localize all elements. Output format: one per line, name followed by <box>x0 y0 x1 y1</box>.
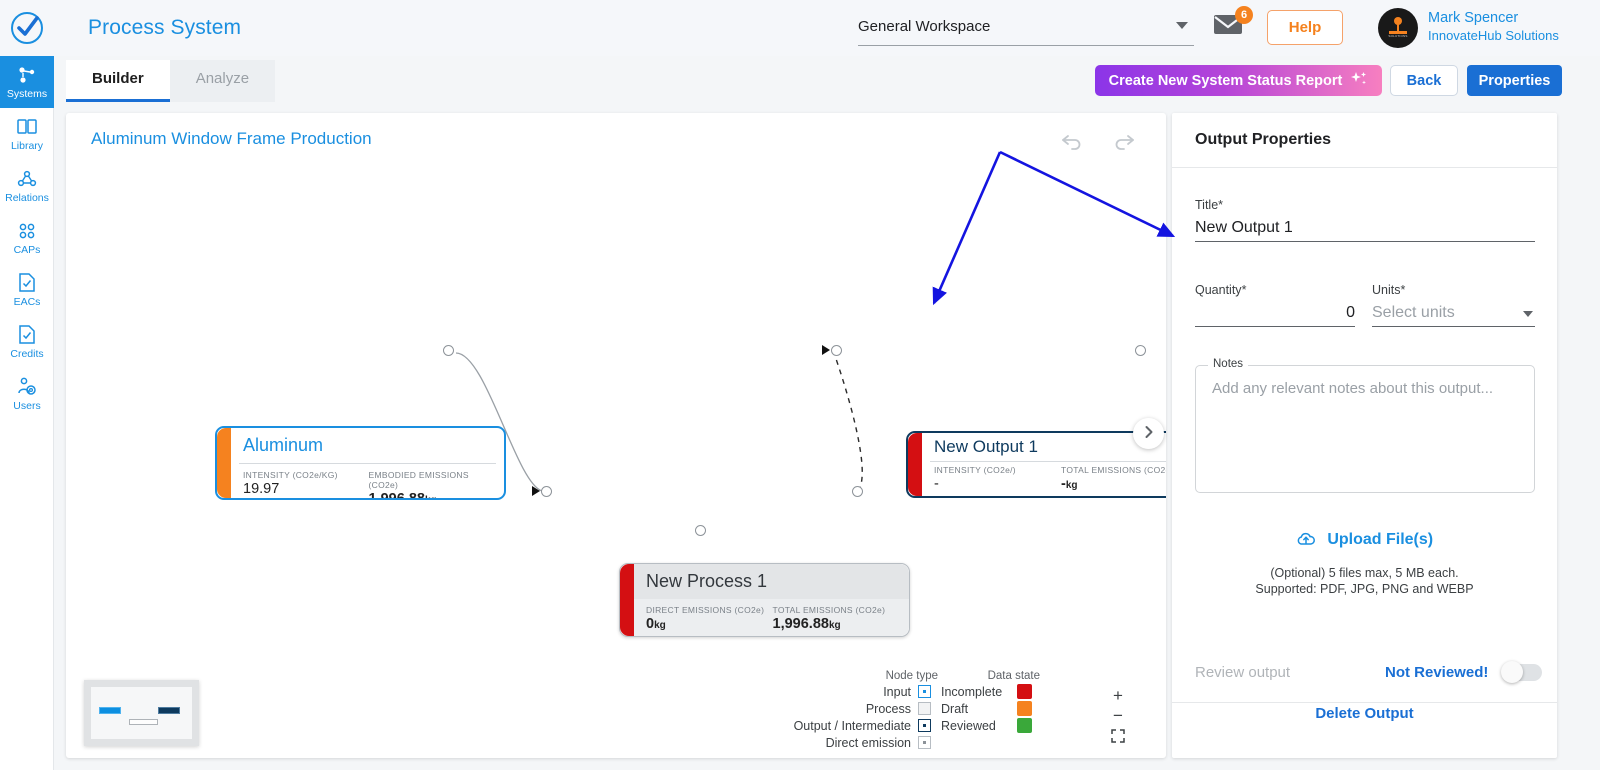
upload-help-text: (Optional) 5 files max, 5 MB each. Suppo… <box>1172 565 1557 597</box>
zoom-controls: + − <box>1106 689 1130 744</box>
node-metric-label: TOTAL EMISSIONS (CO2e) <box>1061 465 1166 475</box>
node-metrics: DIRECT EMISSIONS (CO2e) 0kg TOTAL EMISSI… <box>634 599 909 636</box>
node-metric-label: INTENSITY (CO2e/) <box>934 465 1061 475</box>
top-header-bar: Process System <box>0 0 1600 56</box>
legend-direct-emission-chip-icon <box>918 736 931 749</box>
legend-row: Direct emission <box>790 735 1046 750</box>
node-body: Aluminum INTENSITY (CO2e/KG) 19.97 EMBOD… <box>231 428 504 498</box>
legend-data-state-label: Reviewed <box>931 719 1017 733</box>
sidebar-item-label: CAPs <box>14 244 41 256</box>
user-org: InnovateHub Solutions <box>1428 28 1559 43</box>
node-metric: INTENSITY (CO2e/KG) 19.97 <box>243 470 369 498</box>
grid-dots-icon <box>18 221 36 241</box>
review-toggle[interactable] <box>1502 664 1542 681</box>
zoom-out-button[interactable]: − <box>1113 709 1123 722</box>
node-output-port-output[interactable] <box>1135 345 1146 356</box>
title-field-label: Title* <box>1195 198 1535 212</box>
node-metric-value: 1,996.88kg <box>369 491 495 498</box>
legend-state-color-reviewed <box>1017 718 1032 733</box>
node-metric-value: -kg <box>1061 476 1166 492</box>
sidebar-item-label: Library <box>11 140 43 152</box>
node-output-port-process-bottom[interactable] <box>695 525 706 536</box>
chevron-right-icon <box>1143 425 1155 443</box>
node-metric: TOTAL EMISSIONS (CO2e) 1,996.88kg <box>773 605 900 632</box>
back-button[interactable]: Back <box>1390 65 1458 96</box>
sidebar-item-relations[interactable]: Relations <box>0 160 54 212</box>
node-new-process-1[interactable]: New Process 1 DIRECT EMISSIONS (CO2e) 0k… <box>619 563 910 637</box>
sidebar-item-caps[interactable]: CAPs <box>0 212 54 264</box>
legend-state-color-draft <box>1017 701 1032 716</box>
minimap-viewport <box>91 687 192 739</box>
upload-files-button[interactable]: Upload File(s) <box>1172 531 1557 553</box>
notes-field-label: Notes <box>1208 358 1248 370</box>
node-aluminum[interactable]: Aluminum INTENSITY (CO2e/KG) 19.97 EMBOD… <box>215 426 506 500</box>
node-metric-value: 0kg <box>646 616 773 632</box>
legend-node-type-label: Input <box>790 685 918 699</box>
review-output-row: Review output Not Reviewed! <box>1172 643 1557 703</box>
legend-col-data-state: Data state <box>938 670 1046 682</box>
units-select-placeholder: Select units <box>1372 304 1455 321</box>
fit-screen-icon[interactable] <box>1111 729 1125 744</box>
title-input[interactable]: New Output 1 <box>1195 219 1535 242</box>
tab-analyze[interactable]: Analyze <box>170 60 275 102</box>
sidebar-item-label: Credits <box>10 348 43 360</box>
delete-output-button[interactable]: Delete Output <box>1172 705 1557 722</box>
legend-input-chip-icon <box>918 685 931 698</box>
help-button[interactable]: Help <box>1267 10 1343 45</box>
sidebar-item-users[interactable]: Users <box>0 368 54 420</box>
quantity-input[interactable]: 0 <box>1195 304 1355 327</box>
systems-node-icon <box>17 65 37 85</box>
mail-button[interactable]: 6 <box>1213 12 1247 42</box>
relations-icon <box>17 169 37 189</box>
avatar[interactable]: SOLUTIONS <box>1378 8 1418 48</box>
workspace-selector[interactable]: General Workspace <box>858 8 1194 46</box>
title-field-group: Title* New Output 1 <box>1195 198 1535 242</box>
units-field-label: Units* <box>1372 283 1535 297</box>
mail-badge: 6 <box>1235 6 1253 24</box>
user-name: Mark Spencer <box>1428 10 1559 26</box>
sidebar-item-systems[interactable]: Systems <box>0 56 54 108</box>
edge-process-to-output <box>834 353 862 491</box>
legend-output-chip-icon <box>918 719 931 732</box>
edge-arrow-into-output <box>822 345 830 355</box>
sidebar-item-label: Systems <box>7 88 47 100</box>
edge-arrow-into-process <box>532 486 540 496</box>
notes-placeholder: Add any relevant notes about this output… <box>1196 366 1534 411</box>
legend-data-state-label: Draft <box>931 702 1017 716</box>
panel-heading: Output Properties <box>1172 113 1557 168</box>
review-toggle-knob <box>1501 661 1523 683</box>
sidebar-item-library[interactable]: Library <box>0 108 54 160</box>
legend-col-node-type: Node type <box>790 670 938 682</box>
chevron-down-icon <box>1523 311 1533 317</box>
node-title: Aluminum <box>231 428 504 463</box>
node-metric: TOTAL EMISSIONS (CO2e) -kg <box>1061 465 1166 492</box>
sidebar-item-credits[interactable]: Credits <box>0 316 54 368</box>
book-icon <box>17 117 37 137</box>
canvas-legend: Node type Data state Input Incomplete Pr… <box>790 670 1046 750</box>
sidebar-item-label: Users <box>13 400 40 412</box>
legend-process-chip-icon <box>918 702 931 715</box>
legend-row: Output / Intermediate Reviewed <box>790 718 1046 733</box>
node-metric-label: DIRECT EMISSIONS (CO2e) <box>646 605 773 615</box>
legend-state-color-incomplete <box>1017 684 1032 699</box>
legend-node-type-label: Output / Intermediate <box>790 719 918 733</box>
node-metric: DIRECT EMISSIONS (CO2e) 0kg <box>646 605 773 632</box>
units-field-group: Units* Select units <box>1372 283 1535 327</box>
node-state-stripe <box>908 433 922 496</box>
legend-data-state-label: Incomplete <box>931 685 1017 699</box>
report-button-label: Create New System Status Report <box>1109 73 1343 89</box>
tab-builder[interactable]: Builder <box>66 60 170 102</box>
output-properties-panel: Output Properties Title* New Output 1 Qu… <box>1172 113 1557 758</box>
node-state-stripe <box>217 428 231 498</box>
document-check-icon <box>19 325 35 345</box>
quantity-input-value: 0 <box>1346 304 1355 321</box>
quantity-field-group: Quantity* 0 <box>1195 283 1355 327</box>
minimap-node-process <box>129 719 157 725</box>
units-select[interactable]: Select units <box>1372 304 1535 327</box>
node-metric: EMBODIED EMISSIONS (CO2e) 1,996.88kg <box>369 470 495 498</box>
node-metric-label: TOTAL EMISSIONS (CO2e) <box>773 605 900 615</box>
node-metrics: INTENSITY (CO2e/) - TOTAL EMISSIONS (CO2… <box>922 462 1166 495</box>
cloud-upload-icon <box>1296 535 1321 552</box>
workspace-value: General Workspace <box>858 18 990 35</box>
node-output-port-process-right[interactable] <box>852 486 863 497</box>
node-output-port-aluminum[interactable] <box>443 345 454 356</box>
sidebar-item-eacs[interactable]: EACs <box>0 264 54 316</box>
sidebar-item-label: EACs <box>14 296 41 308</box>
upload-note-line-1: (Optional) 5 files max, 5 MB each. <box>1172 565 1557 581</box>
zoom-in-button[interactable]: + <box>1113 689 1123 702</box>
review-output-label: Review output <box>1195 664 1290 681</box>
node-body: New Output 1 INTENSITY (CO2e/) - TOTAL E… <box>922 433 1166 496</box>
legend-node-type-label: Direct emission <box>790 736 918 750</box>
node-metric-label: EMBODIED EMISSIONS (CO2e) <box>369 470 495 490</box>
check-circle-logo-icon <box>8 9 46 47</box>
app-logo[interactable] <box>0 0 54 56</box>
node-new-output-1[interactable]: New Output 1 INTENSITY (CO2e/) - TOTAL E… <box>906 431 1166 498</box>
legend-headers: Node type Data state <box>790 670 1046 682</box>
app-root: Process System General Workspace 6 Help … <box>0 0 1600 770</box>
panel-collapse-toggle[interactable] <box>1133 418 1164 449</box>
sidebar-item-label: Relations <box>5 192 49 204</box>
review-status-badge: Not Reviewed! <box>1385 664 1488 681</box>
user-gear-icon <box>17 377 37 397</box>
node-metric-label: INTENSITY (CO2e/KG) <box>243 470 369 480</box>
app-title: Process System <box>88 16 241 40</box>
notes-textarea[interactable]: Notes Add any relevant notes about this … <box>1195 365 1535 493</box>
legend-row: Process Draft <box>790 701 1046 716</box>
node-metric-value: 1,996.88kg <box>773 616 900 632</box>
node-metrics: INTENSITY (CO2e/KG) 19.97 EMBODIED EMISS… <box>231 464 504 498</box>
title-input-value: New Output 1 <box>1195 219 1293 236</box>
left-sidebar: Systems Library Relations CAPs EACs <box>0 56 54 770</box>
chevron-down-icon <box>1176 22 1188 29</box>
minimap-node-aluminum <box>99 707 121 714</box>
avatar-logo-icon: SOLUTIONS <box>1386 16 1410 40</box>
canvas-minimap[interactable] <box>84 680 199 746</box>
diagram-canvas[interactable]: Aluminum Window Frame Production Aluminu… <box>66 113 1166 758</box>
create-system-status-report-button[interactable]: Create New System Status Report <box>1095 65 1382 96</box>
minimap-node-output <box>158 707 180 714</box>
node-title: New Output 1 <box>922 433 1166 461</box>
quantity-field-label: Quantity* <box>1195 283 1355 297</box>
node-title: New Process 1 <box>634 564 909 599</box>
upload-files-label: Upload File(s) <box>1327 531 1433 548</box>
node-metric-value: 19.97 <box>243 481 369 497</box>
node-metric: INTENSITY (CO2e/) - <box>934 465 1061 492</box>
user-info[interactable]: Mark Spencer InnovateHub Solutions <box>1428 10 1559 43</box>
node-body: New Process 1 DIRECT EMISSIONS (CO2e) 0k… <box>634 564 909 636</box>
node-metric-value: - <box>934 476 1061 492</box>
node-state-stripe <box>620 564 634 636</box>
legend-node-type-label: Process <box>790 702 918 716</box>
sparkles-icon <box>1350 71 1368 91</box>
view-tabs: Builder Analyze <box>66 60 275 102</box>
node-input-port-output[interactable] <box>831 345 842 356</box>
legend-row: Input Incomplete <box>790 684 1046 699</box>
upload-note-line-2: Supported: PDF, JPG, PNG and WEBP <box>1172 581 1557 597</box>
document-check-icon <box>19 273 35 293</box>
node-input-port-process[interactable] <box>541 486 552 497</box>
properties-button[interactable]: Properties <box>1467 65 1562 96</box>
